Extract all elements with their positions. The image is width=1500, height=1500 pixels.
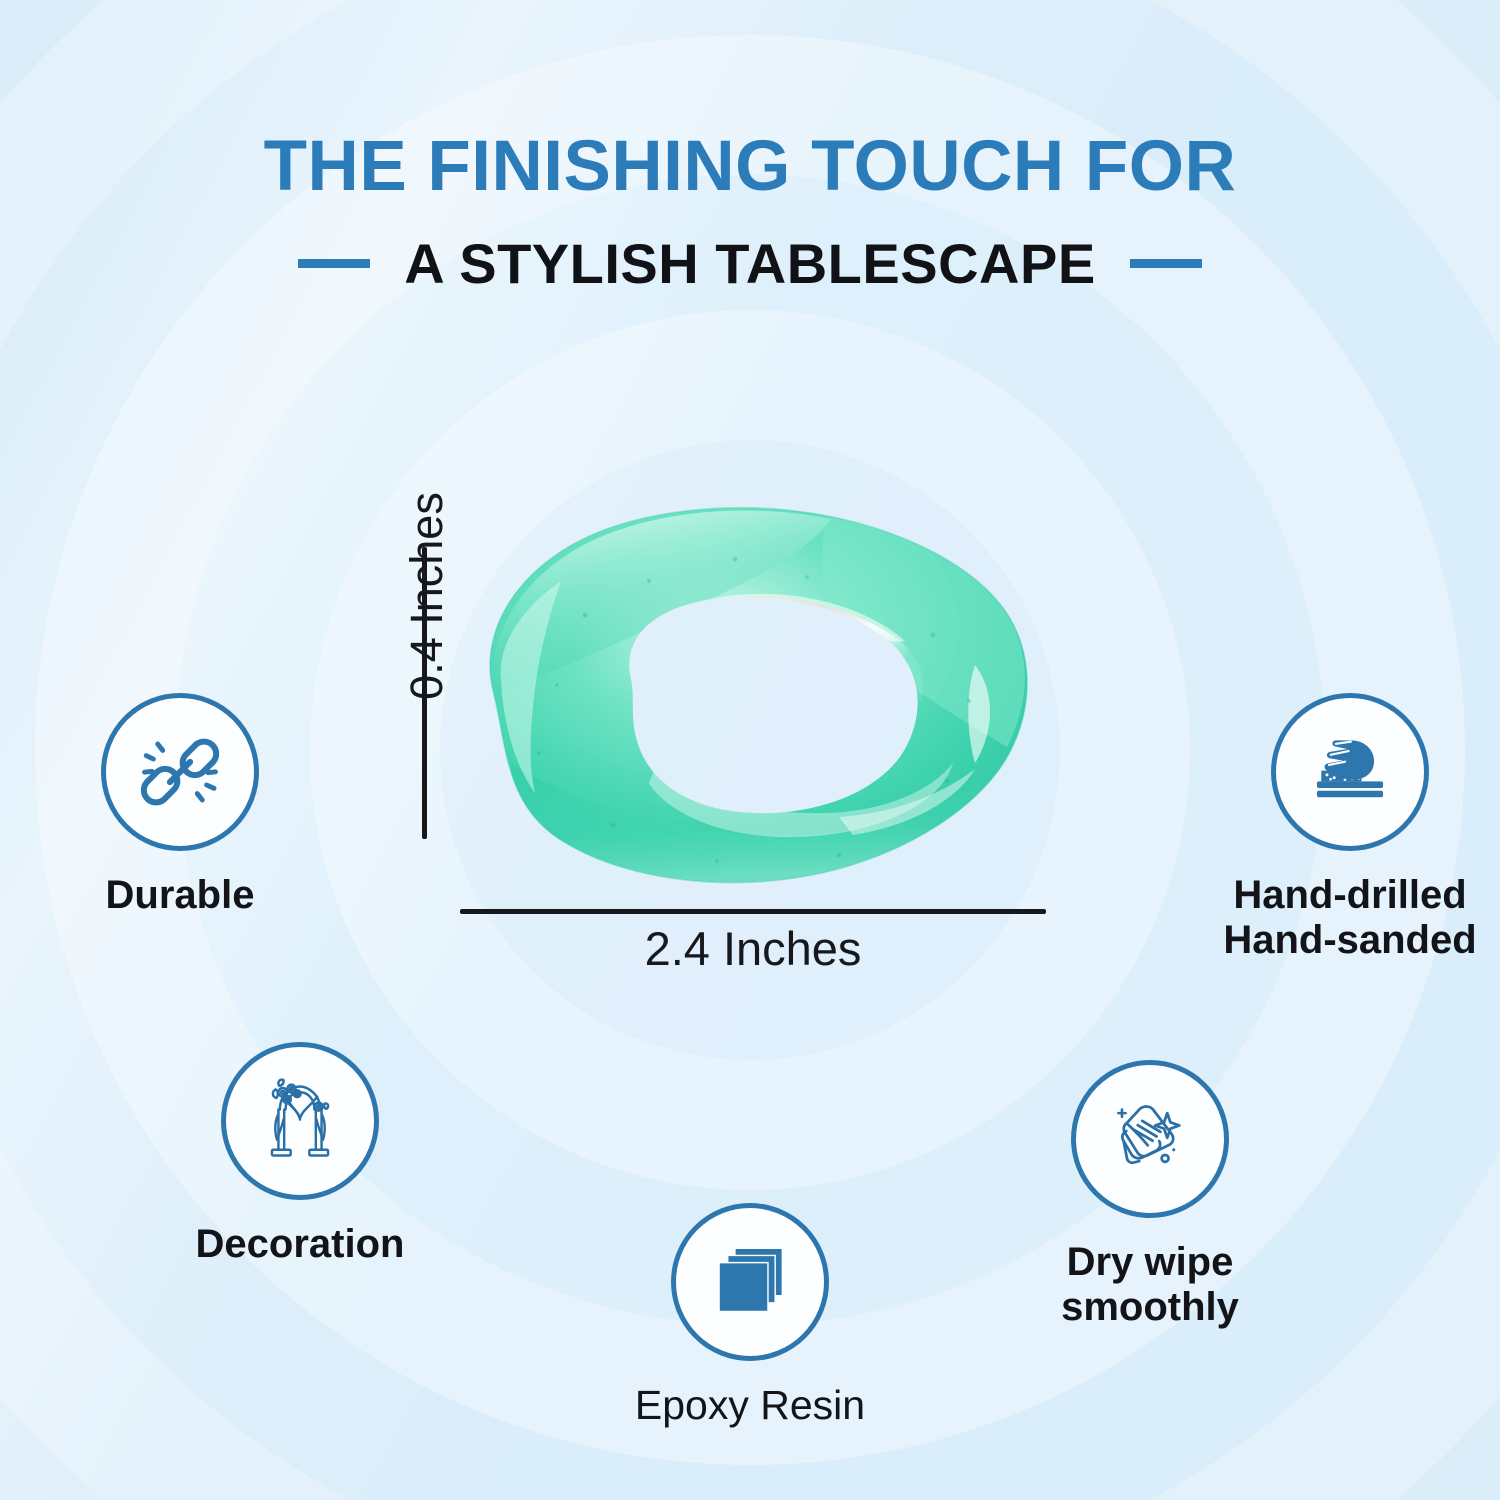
feature-label-dry-wipe: Dry wipe smoothly xyxy=(960,1240,1340,1330)
feature-durable: Durable xyxy=(20,693,340,918)
product-infographic: THE FINISHING TOUCH FOR A STYLISH TABLES… xyxy=(0,0,1500,1500)
heading-block: THE FINISHING TOUCH FOR A STYLISH TABLES… xyxy=(0,130,1500,296)
feature-label-epoxy-resin: Epoxy Resin xyxy=(595,1383,905,1429)
feature-badge-epoxy-resin xyxy=(671,1203,829,1361)
feature-label-decoration: Decoration xyxy=(130,1222,470,1267)
feature-badge-hand-drilled xyxy=(1271,693,1429,851)
chain-link-icon xyxy=(134,726,226,818)
feature-decoration: Decoration xyxy=(130,1042,470,1267)
resin-sheets-icon xyxy=(704,1236,796,1328)
feature-badge-decoration xyxy=(221,1042,379,1200)
feature-badge-durable xyxy=(101,693,259,851)
feature-hand-drilled: Hand-drilled Hand-sanded xyxy=(1160,693,1500,963)
hand-wiping-cloth-icon xyxy=(1104,1093,1196,1185)
sanding-hand-icon xyxy=(1304,726,1396,818)
height-dimension-label: 0.4 Inches xyxy=(401,471,453,721)
width-dimension-line xyxy=(460,909,1046,914)
feature-badge-dry-wipe xyxy=(1071,1060,1229,1218)
product-stage: 0.4 Inches 2.4 Inches xyxy=(380,495,1080,965)
product-image-resin-napkin-ring xyxy=(435,495,1055,895)
feature-label-hand-drilled: Hand-drilled Hand-sanded xyxy=(1160,873,1500,963)
subline-row: A STYLISH TABLESCAPE xyxy=(0,231,1500,296)
feature-epoxy-resin: Epoxy Resin xyxy=(595,1203,905,1429)
headline: THE FINISHING TOUCH FOR xyxy=(0,130,1500,205)
floral-arch-icon xyxy=(254,1075,346,1167)
width-dimension-label: 2.4 Inches xyxy=(460,921,1046,976)
horizontal-dash-icon-left xyxy=(298,259,370,268)
subline: A STYLISH TABLESCAPE xyxy=(404,231,1095,296)
horizontal-dash-icon-right xyxy=(1130,259,1202,268)
feature-dry-wipe: Dry wipe smoothly xyxy=(960,1060,1340,1330)
feature-label-durable: Durable xyxy=(20,873,340,918)
